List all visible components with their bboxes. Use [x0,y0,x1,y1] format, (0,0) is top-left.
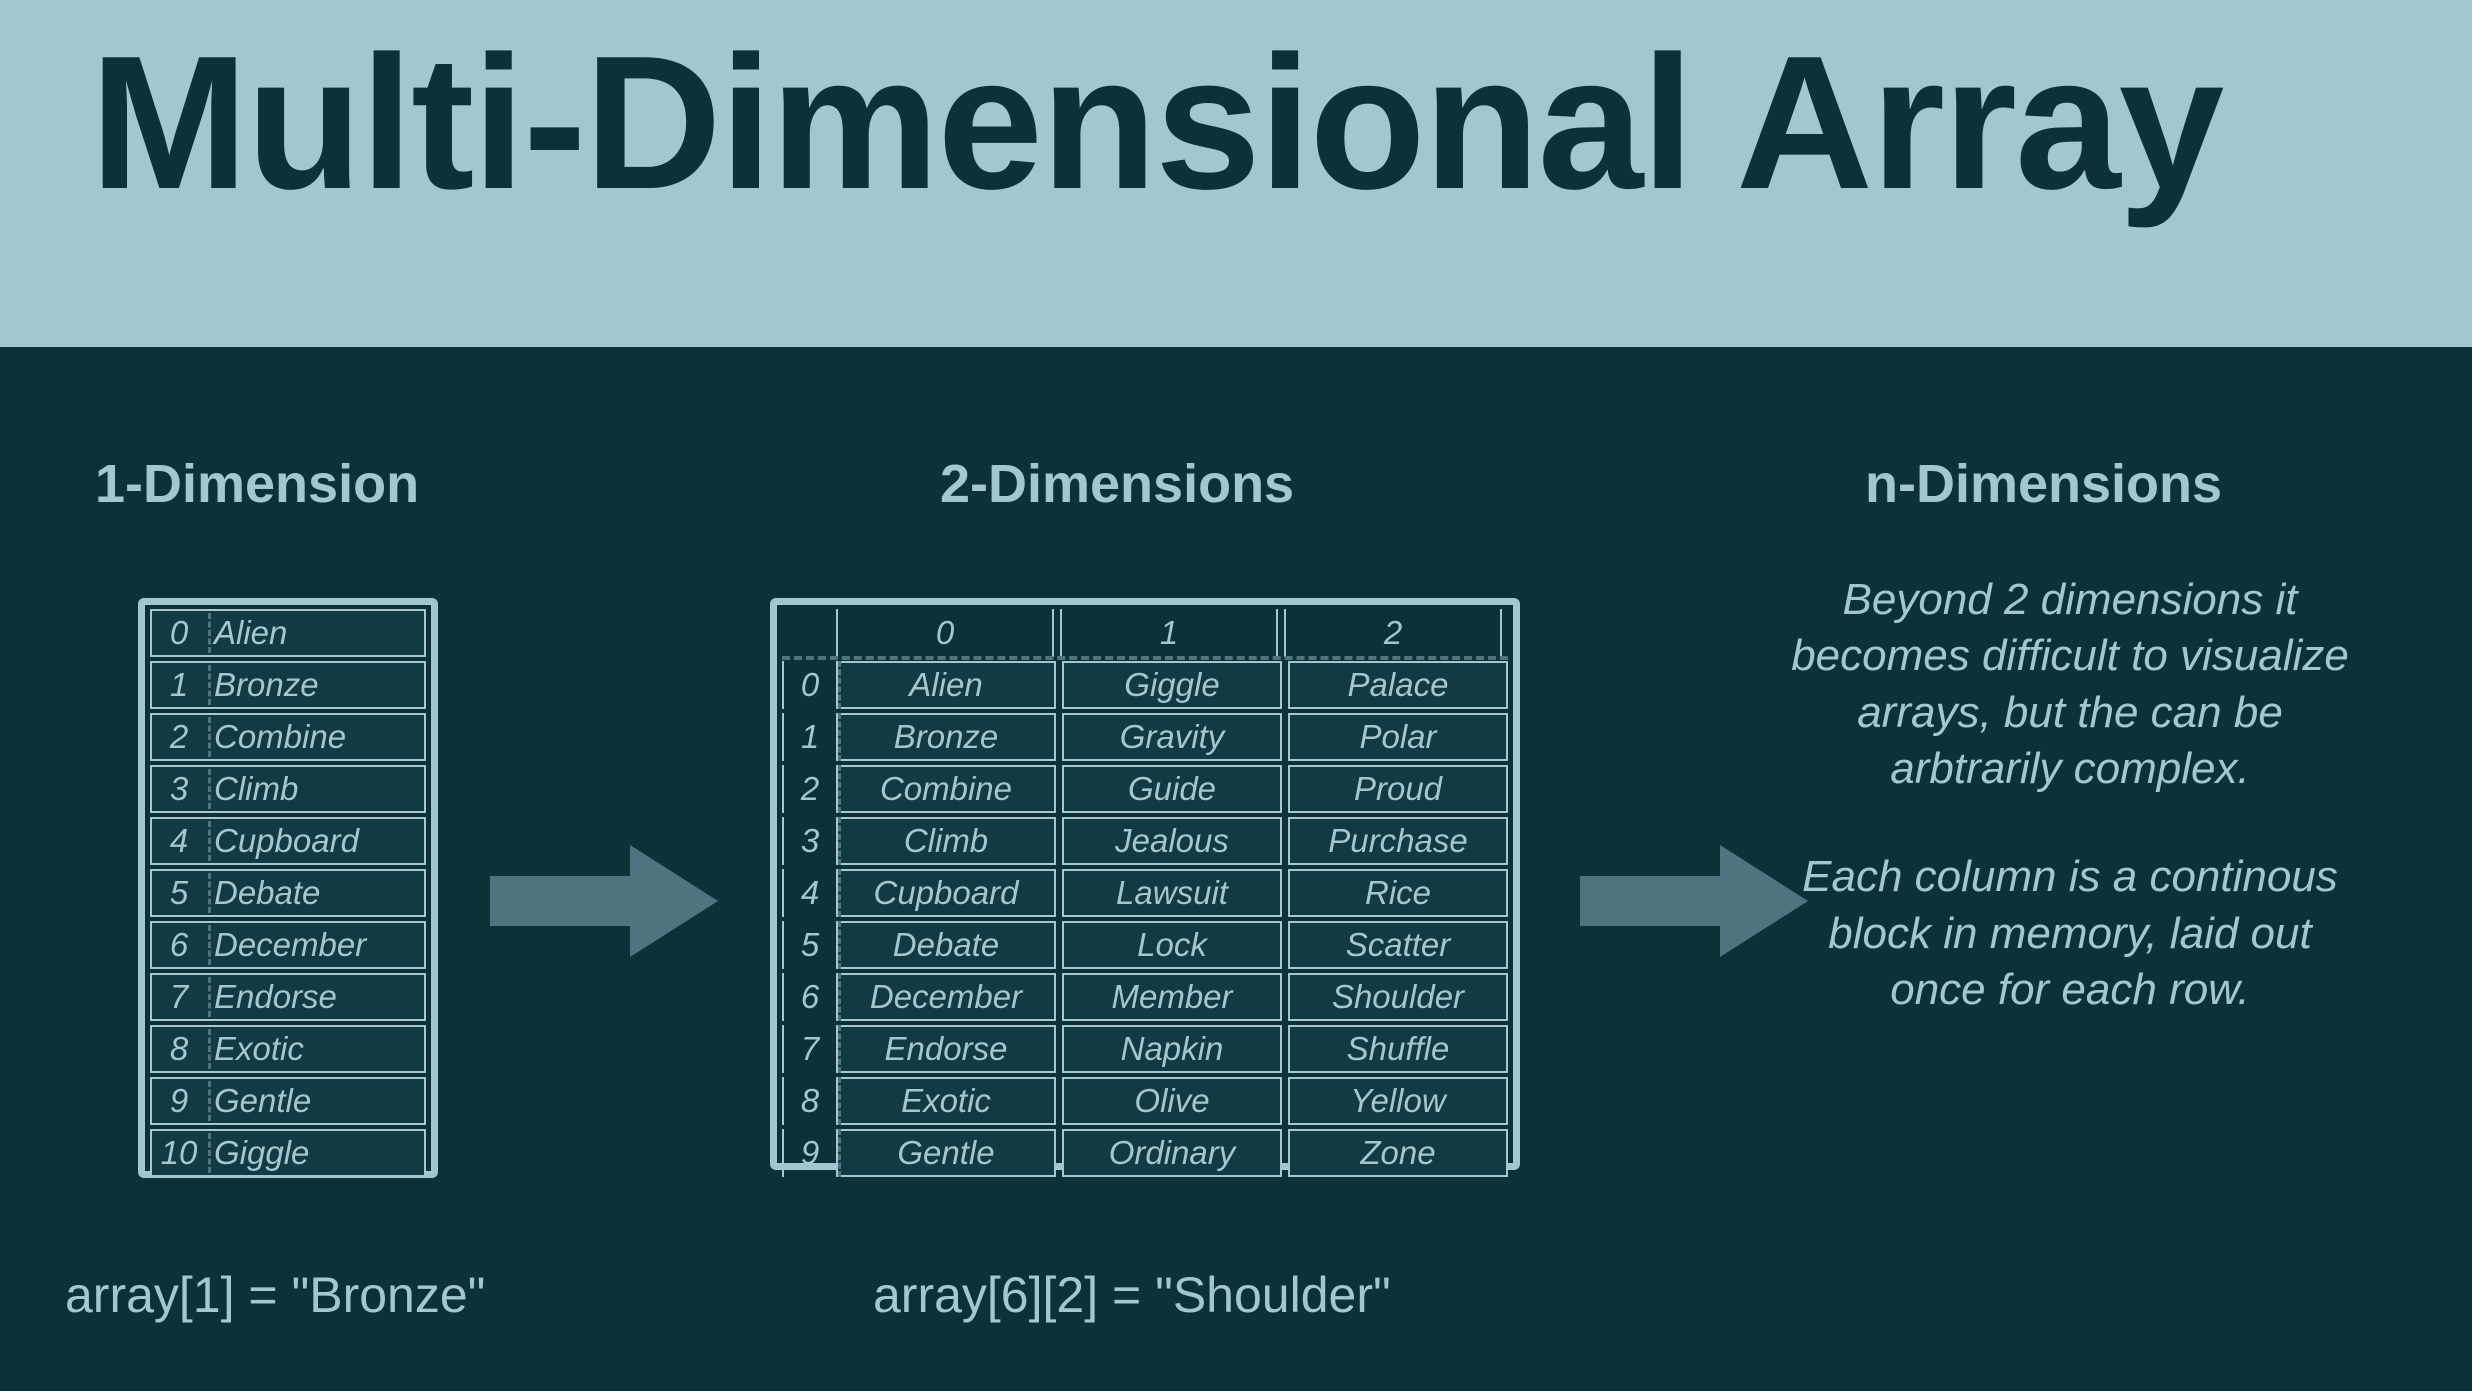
index-separator [838,1025,841,1073]
cell-value: Giggle [206,1134,424,1172]
column-header: 0 [836,609,1054,657]
cell-value: Climb [836,817,1056,865]
cell-value: Gentle [206,1082,424,1120]
cell-value: Alien [836,661,1056,709]
cell-value: Combine [206,718,424,756]
row-index: 4 [782,869,836,917]
row-index: 7 [152,978,206,1016]
heading-two-dimensions: 2-Dimensions [940,453,1294,515]
cell-value: Cupboard [206,822,424,860]
table-row: 3ClimbJealousPurchase [782,817,1508,865]
column-header: 2 [1284,609,1502,657]
caption-one-dimension-example: array[1] = "Bronze" [65,1266,485,1324]
table-row: 3Climb [150,765,426,813]
table-row: 7Endorse [150,973,426,1021]
cell-value: Scatter [1288,921,1508,969]
row-index: 9 [782,1129,836,1177]
row-index: 9 [152,1082,206,1120]
table-row: 7EndorseNapkinShuffle [782,1025,1508,1073]
row-index: 10 [152,1134,206,1172]
row-index: 8 [782,1077,836,1125]
cell-value: Lawsuit [1062,869,1282,917]
index-separator [838,765,841,813]
row-index: 1 [782,713,836,761]
cell-value: Gravity [1062,713,1282,761]
cell-value: Olive [1062,1077,1282,1125]
row-index: 6 [782,973,836,1021]
index-separator [208,665,211,705]
cell-value: Napkin [1062,1025,1282,1073]
cell-value: Exotic [206,1030,424,1068]
table-row: 5DebateLockScatter [782,921,1508,969]
n-dimensions-description: Beyond 2 dimensions it becomes difficult… [1790,572,2350,1018]
two-dimensional-array-table: 0120AlienGigglePalace1BronzeGravityPolar… [770,598,1520,1170]
index-separator [838,713,841,761]
slide-canvas: Multi-Dimensional Array 1-Dimension 2-Di… [0,0,2472,1391]
cell-value: Bronze [836,713,1056,761]
row-index: 5 [152,874,206,912]
cell-value: Giggle [1062,661,1282,709]
column-header: 1 [1060,609,1278,657]
heading-n-dimensions: n-Dimensions [1865,453,2222,515]
heading-one-dimension: 1-Dimension [95,453,419,515]
page-title: Multi-Dimensional Array [90,28,2222,218]
table-row: 4CupboardLawsuitRice [782,869,1508,917]
cell-value: Ordinary [1062,1129,1282,1177]
table-row: 6December [150,921,426,969]
cell-value: Gentle [836,1129,1056,1177]
n-dimensions-paragraph-2: Each column is a continous block in memo… [1790,849,2350,1018]
cell-value: Guide [1062,765,1282,813]
table-row: 9Gentle [150,1077,426,1125]
cell-value: Endorse [206,978,424,1016]
index-separator [838,921,841,969]
cell-value: Shoulder [1288,973,1508,1021]
cell-value: Purchase [1288,817,1508,865]
cell-value: December [836,973,1056,1021]
row-index: 1 [152,666,206,704]
cell-value: Jealous [1062,817,1282,865]
row-index: 5 [782,921,836,969]
cell-value: Alien [206,614,424,652]
cell-value: Climb [206,770,424,808]
table-row: 5Debate [150,869,426,917]
table-row: 2Combine [150,713,426,761]
n-dimensions-paragraph-1: Beyond 2 dimensions it becomes difficult… [1790,572,2350,797]
row-index: 2 [152,718,206,756]
arrow-right-icon [490,845,718,957]
arrow-right-icon [1580,845,1808,957]
table-row: 2CombineGuideProud [782,765,1508,813]
index-separator [838,817,841,865]
cell-value: Endorse [836,1025,1056,1073]
cell-value: Zone [1288,1129,1508,1177]
row-index: 6 [152,926,206,964]
cell-value: Lock [1062,921,1282,969]
index-separator [208,977,211,1017]
index-separator [838,1129,841,1177]
table-row: 0AlienGigglePalace [782,661,1508,709]
cell-value: Yellow [1288,1077,1508,1125]
row-index: 3 [152,770,206,808]
cell-value: Debate [836,921,1056,969]
index-separator [838,869,841,917]
index-separator [208,1133,211,1173]
row-index: 3 [782,817,836,865]
row-index: 4 [152,822,206,860]
table-row: 8ExoticOliveYellow [782,1077,1508,1125]
index-separator [208,769,211,809]
column-header-row: 012 [782,609,1508,657]
cell-value: Shuffle [1288,1025,1508,1073]
row-index: 8 [152,1030,206,1068]
cell-value: Polar [1288,713,1508,761]
cell-value: Cupboard [836,869,1056,917]
index-separator [208,925,211,965]
caption-two-dimensions-example: array[6][2] = "Shoulder" [873,1266,1391,1324]
table-row: 8Exotic [150,1025,426,1073]
index-separator [208,873,211,913]
cell-value: Debate [206,874,424,912]
index-separator [838,973,841,1021]
index-separator [208,717,211,757]
table-row: 1BronzeGravityPolar [782,713,1508,761]
table-row: 10Giggle [150,1129,426,1177]
index-separator [838,1077,841,1125]
index-separator [208,1029,211,1069]
cell-value: Combine [836,765,1056,813]
table-row: 4Cupboard [150,817,426,865]
table-row: 1Bronze [150,661,426,709]
cell-value: Exotic [836,1077,1056,1125]
row-index: 2 [782,765,836,813]
title-banner: Multi-Dimensional Array [0,0,2472,347]
cell-value: Member [1062,973,1282,1021]
cell-value: Rice [1288,869,1508,917]
table-row: 9GentleOrdinaryZone [782,1129,1508,1177]
row-index: 0 [152,614,206,652]
one-dimensional-array-table: 0Alien1Bronze2Combine3Climb4Cupboard5Deb… [138,598,438,1178]
index-separator [208,1081,211,1121]
index-separator [208,613,211,653]
cell-value: Palace [1288,661,1508,709]
table-row: 0Alien [150,609,426,657]
cell-value: Proud [1288,765,1508,813]
index-separator [208,821,211,861]
row-index: 7 [782,1025,836,1073]
header-separator [782,656,1508,660]
row-index: 0 [782,661,836,709]
cell-value: Bronze [206,666,424,704]
index-separator [838,661,841,709]
cell-value: December [206,926,424,964]
table-row: 6DecemberMemberShoulder [782,973,1508,1021]
